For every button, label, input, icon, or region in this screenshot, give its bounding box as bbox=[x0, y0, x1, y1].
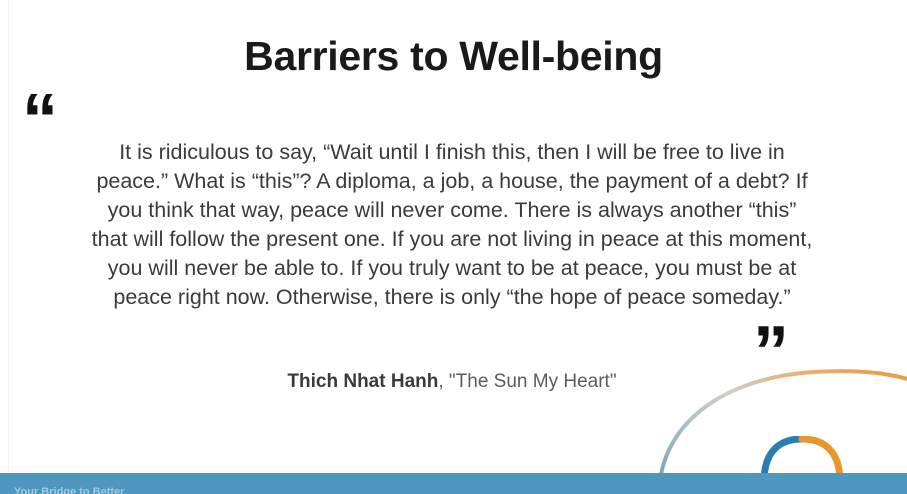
slide-canvas: Barriers to Well-being “ It is ridiculou… bbox=[0, 0, 907, 494]
attribution-author: Thich Nhat Hanh bbox=[287, 371, 438, 392]
footer-band: Your Bridge to Better bbox=[0, 473, 907, 494]
quote-text: It is ridiculous to say, “Wait until I f… bbox=[88, 138, 816, 312]
attribution-source: , "The Sun My Heart" bbox=[438, 371, 616, 392]
opening-quote-icon: “ bbox=[22, 84, 58, 156]
footer-band-text: Your Bridge to Better bbox=[14, 486, 124, 494]
page-title: Barriers to Well-being bbox=[0, 33, 907, 80]
